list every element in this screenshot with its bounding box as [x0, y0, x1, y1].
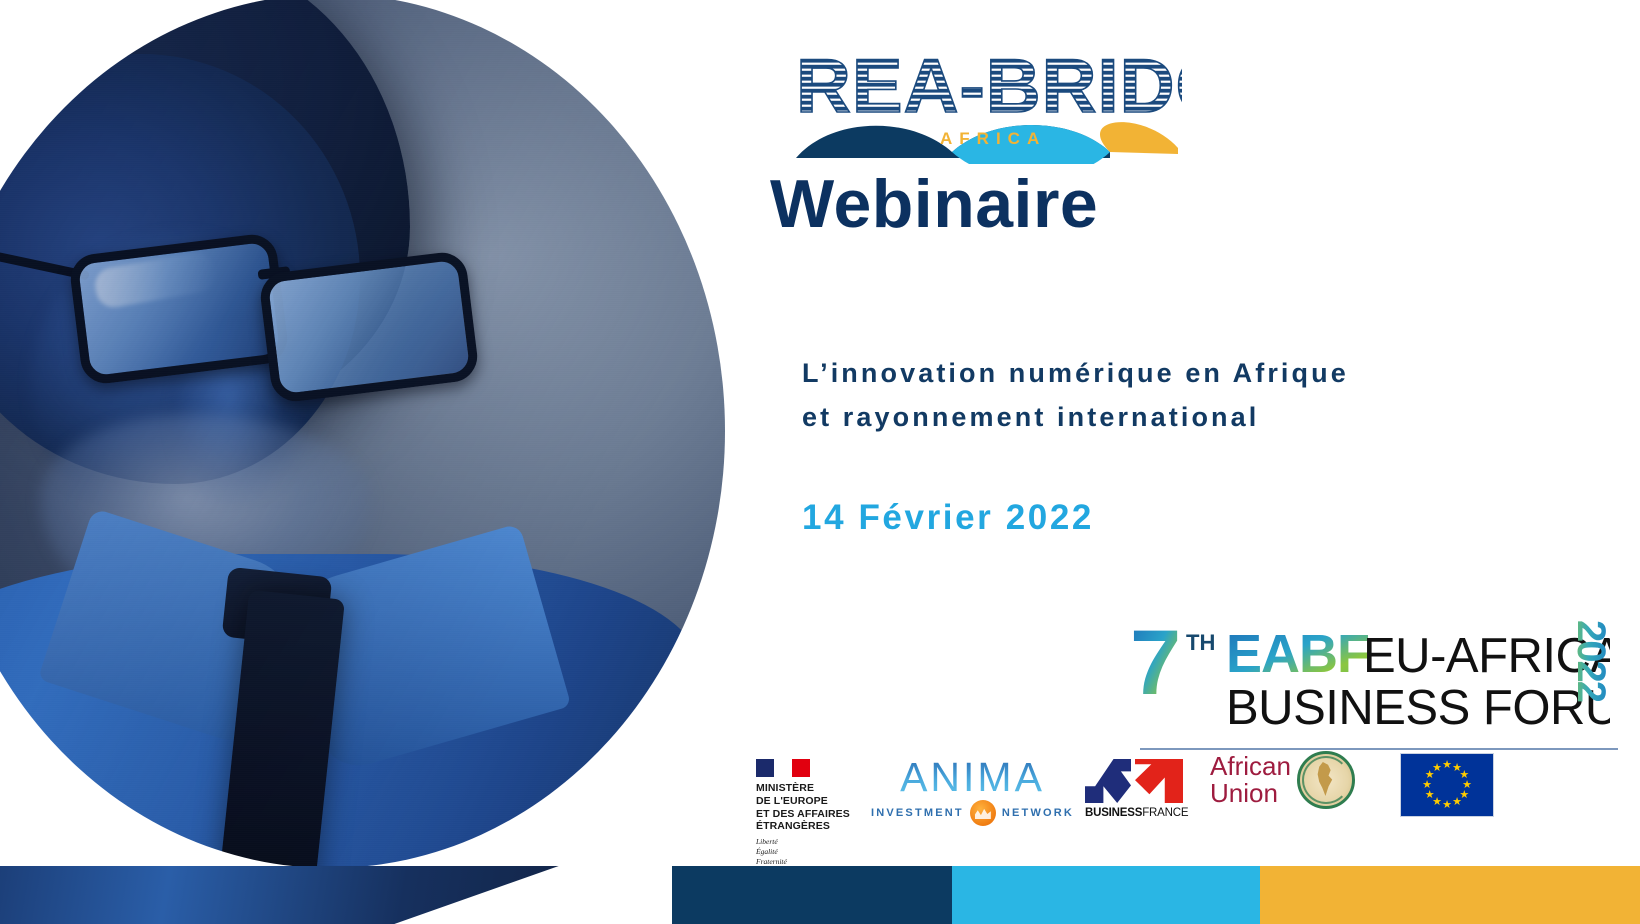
- anima-tagline: INVESTMENT NETWORK: [880, 800, 1065, 826]
- ministry-line-2: DE L'EUROPE: [756, 795, 876, 808]
- motto-egalite: Égalité: [756, 847, 876, 857]
- anima-flame-icon: [970, 800, 996, 826]
- african-union-wordmark: African Union: [1210, 753, 1291, 806]
- business-france-light: FRANCE: [1142, 807, 1188, 819]
- partner-logo-african-union: African Union: [1210, 751, 1390, 809]
- partner-logo-ministry: MINISTÈRE DE L'EUROPE ET DES AFFAIRES ÉT…: [756, 759, 876, 868]
- ministry-line-3: ET DES AFFAIRES: [756, 808, 876, 821]
- african-union-line-1: African: [1210, 753, 1291, 780]
- ministry-name: MINISTÈRE DE L'EUROPE ET DES AFFAIRES ÉT…: [756, 782, 876, 833]
- eu-flag-star: ★: [1422, 780, 1432, 790]
- bottom-bar-navy-segment: [672, 866, 952, 924]
- eabf-ordinal-number: 7: [1130, 612, 1181, 714]
- french-republic-motto: Liberté Égalité Fraternité: [756, 837, 876, 867]
- subtitle-line-2: et rayonnement international: [802, 396, 1622, 440]
- eu-flag-star: ★: [1442, 760, 1452, 770]
- african-union-line-2: Union: [1210, 780, 1291, 807]
- bottom-bar-cyan-segment: [952, 866, 1260, 924]
- content-panel: REA-BRIDGE REA-BRIDGE AFRICA Webinaire L…: [740, 0, 1640, 924]
- logo-africa-text: AFRICA: [940, 129, 1046, 148]
- partner-logo-european-union: ★★★★★★★★★★★★: [1400, 753, 1494, 817]
- partner-logos-row: MINISTÈRE DE L'EUROPE ET DES AFFAIRES ÉT…: [740, 745, 1640, 845]
- svg-text:REA-BRIDGE: REA-BRIDGE: [796, 44, 1182, 129]
- bottom-bar-amber-segment: [1260, 866, 1640, 924]
- page-title: Webinaire: [770, 170, 1098, 238]
- eabf-name-line-2: BUSINESS FORUM: [1226, 681, 1610, 734]
- eu-flag-icon: ★★★★★★★★★★★★: [1400, 753, 1494, 817]
- eu-flag-star: ★: [1432, 763, 1442, 773]
- photo-circle-mask: [0, 0, 790, 869]
- eabf-ordinal-suffix: TH: [1186, 630, 1215, 655]
- business-france-arrows-icon: [1085, 759, 1183, 803]
- business-france-bold: BUSINESS: [1085, 807, 1142, 819]
- french-flag-icon: [756, 759, 810, 777]
- eu-flag-star: ★: [1452, 797, 1462, 807]
- rea-bridge-africa-logo: REA-BRIDGE REA-BRIDGE AFRICA: [792, 36, 1182, 164]
- ministry-line-1: MINISTÈRE: [756, 782, 876, 795]
- bottom-color-bar: [0, 866, 1640, 924]
- eu-flag-star: ★: [1425, 790, 1435, 800]
- motto-liberte: Liberté: [756, 837, 876, 847]
- ministry-line-4: ÉTRANGÈRES: [756, 820, 876, 833]
- eabf-year: 2022: [1569, 620, 1610, 702]
- bottom-bar-spacer: [0, 866, 672, 924]
- webinar-subtitle: L’innovation numérique en Afrique et ray…: [802, 352, 1622, 439]
- eabf-event-logo: 7 TH EABF EU-AFRICA BUSINESS FORUM 2022: [1130, 612, 1610, 732]
- business-france-wordmark: BUSINESSFRANCE: [1085, 807, 1195, 819]
- webinar-date: 14 Février 2022: [802, 498, 1094, 538]
- eu-flag-star: ★: [1442, 800, 1452, 810]
- partner-logo-business-france: BUSINESSFRANCE: [1085, 759, 1195, 819]
- banner-canvas: REA-BRIDGE REA-BRIDGE AFRICA Webinaire L…: [0, 0, 1640, 924]
- african-union-emblem-icon: [1297, 751, 1355, 809]
- hero-photo: [0, 0, 800, 924]
- anima-tagline-left: INVESTMENT: [871, 807, 964, 819]
- anima-tagline-right: NETWORK: [1002, 807, 1074, 819]
- partner-logo-anima: ANIMA INVESTMENT NETWORK: [880, 757, 1065, 826]
- anima-wordmark: ANIMA: [880, 757, 1065, 798]
- eabf-acronym: EABF: [1226, 624, 1369, 684]
- partner-divider-rule: [1140, 748, 1618, 750]
- photo-grain: [0, 0, 790, 869]
- subtitle-line-1: L’innovation numérique en Afrique: [802, 352, 1622, 396]
